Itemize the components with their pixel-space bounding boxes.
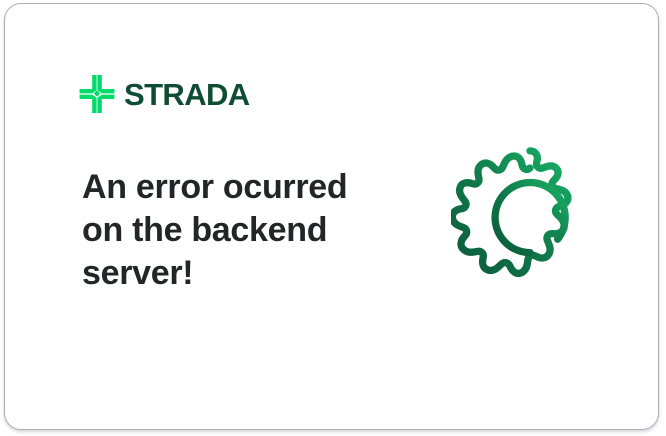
page-root: STRADA An error ocurred on the backend s… [0, 0, 666, 436]
error-message-line-3: server! [82, 252, 382, 295]
gear-icon [451, 142, 609, 300]
brand-lockup: STRADA [79, 74, 250, 114]
error-card: STRADA An error ocurred on the backend s… [4, 3, 659, 430]
error-message: An error ocurred on the backend server! [82, 166, 382, 295]
strada-asterisk-icon [79, 74, 115, 114]
brand-name: STRADA [124, 79, 250, 110]
error-message-line-2: on the backend [82, 209, 382, 252]
error-message-line-1: An error ocurred [82, 166, 382, 209]
